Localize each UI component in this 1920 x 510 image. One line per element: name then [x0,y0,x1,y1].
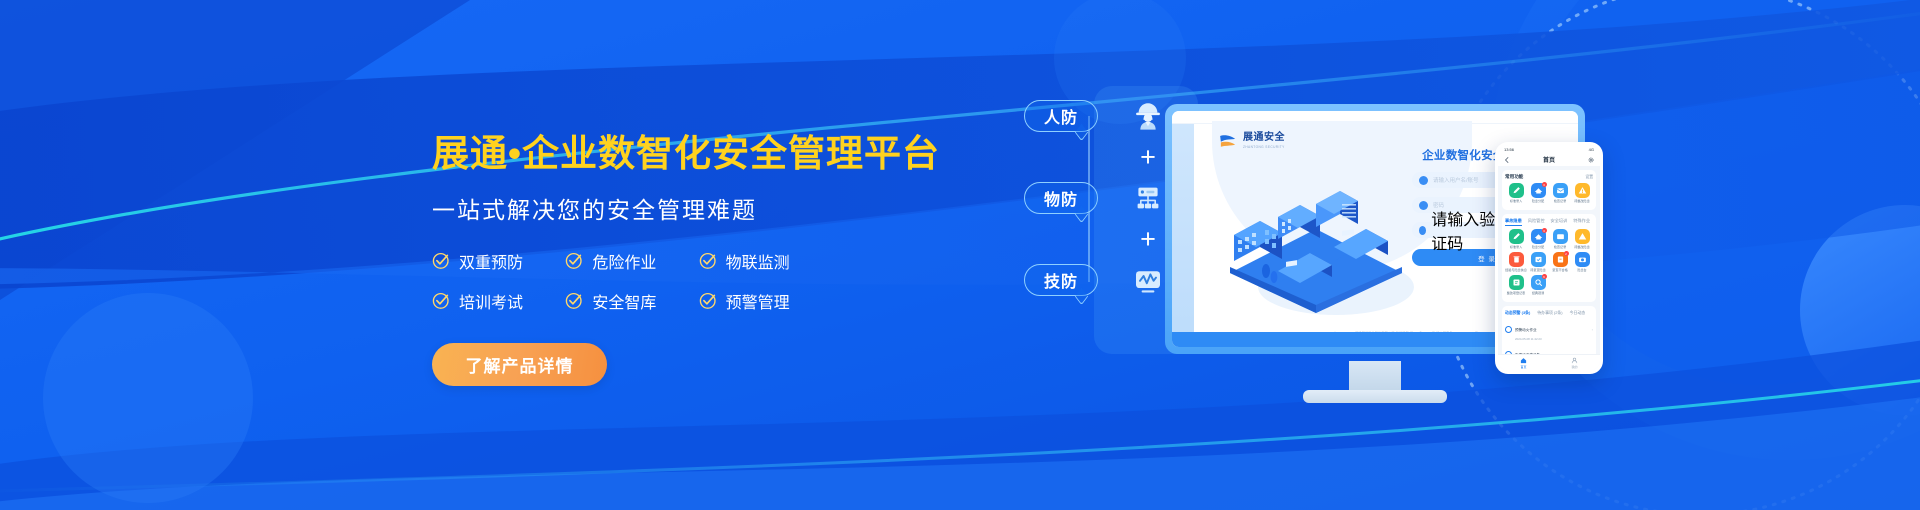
app-label: 经验与隐患信息 [1505,269,1527,273]
feature-label: 培训考试 [459,289,523,313]
phone-status-bar: 13:56 4G [1498,145,1600,153]
lock-icon [1419,201,1428,210]
edit-doc-icon [1509,183,1524,198]
tabbar-label: 首页 [1520,365,1526,369]
list-tab-today[interactable]: 今日动态 [1570,310,1586,316]
app-tile[interactable]: 标准录入 [1505,183,1527,203]
product-visual: 人防 物防 技防 + [1010,60,1880,480]
tab-training[interactable]: 安全培训 [1551,218,1568,226]
user-icon [1419,176,1428,185]
app-label: 隐患分配 [1532,246,1544,250]
app-label: 待整改隐患 [1574,200,1589,204]
form-icon [1509,275,1524,290]
check-circle-icon [699,291,718,310]
badge-count: 3 [1542,182,1547,187]
warning-icon [1575,229,1590,244]
feature-label: 预警管理 [726,289,790,313]
app-label: 隐患台 [1577,269,1586,273]
app-label: 检查记录 [1554,200,1566,204]
tab-special[interactable]: 特殊作业 [1573,218,1590,226]
app-label: 标准录入 [1510,246,1522,250]
plus-separator-1: + [1140,140,1156,174]
camera-icon [1575,252,1590,267]
phone-section-common: 常用功能 设置 标准录入 3 [1502,170,1596,210]
username-placeholder: 请输入用户名/账号 [1433,176,1479,184]
feature-item: 预警管理 [699,289,832,313]
shield-icon [1419,226,1426,235]
app-tile[interactable]: 待整改隐患 [1571,229,1593,249]
page-title: 展通•企业数智化安全管理平台 [432,134,992,175]
review-icon [1531,252,1546,267]
feature-item: 危险作业 [565,249,698,273]
feature-label: 双重预防 [459,249,523,273]
app-label: 隐患分配 [1532,200,1544,204]
record-icon [1553,229,1568,244]
app-label: 检查记录 [1554,246,1566,250]
feature-label: 物联监测 [726,249,790,273]
item-title: 预警动火作业 [1515,328,1537,332]
tabbar-profile[interactable]: 我的 [1549,355,1600,371]
learn-more-button[interactable]: 了解产品详情 [432,343,607,386]
status-signal: 4G [1589,147,1594,152]
phone-tabbar: 首页 我的 [1498,354,1600,371]
app-label: 待整改隐患 [1574,246,1589,250]
section-action[interactable]: 设置 [1585,175,1593,180]
list-tab-alerts[interactable]: 动态预警 (3条) [1505,310,1530,316]
app-tile[interactable]: 3 隐患分配 [1527,183,1549,203]
feature-row: 培训考试 安全智库 预警管理 [432,289,832,313]
app-grid: 标准录入 3 隐患分配 [1505,229,1593,298]
user-icon [1571,357,1578,364]
phone-title: 首页 [1543,155,1555,164]
warning-icon [1575,183,1590,198]
check-circle-icon [565,251,584,270]
tabbar-label: 我的 [1571,365,1577,369]
tab-risk[interactable]: 风险管控 [1528,218,1545,226]
mobile-phone-mockup: 13:56 4G 首页 常用功能 [1495,142,1603,374]
edit-doc-icon [1509,229,1524,244]
app-tile[interactable]: 9 经典观测 [1527,275,1549,295]
feature-item: 双重预防 [432,249,565,273]
phone-section-hazard: 事故隐患 风险管控 安全培训 特殊作业 标准录入 [1502,214,1596,302]
tab-hazard[interactable]: 事故隐患 [1505,218,1522,226]
app-label: 复查不合格 [1552,269,1567,273]
logo-mark-icon [1218,133,1238,149]
monitor-stand-neck [1349,361,1401,393]
check-circle-icon [432,291,451,310]
logo-text: 展通安全 [1243,133,1285,143]
feature-list: 双重预防 危险作业 物联监测 [432,249,832,313]
badge-count: 2 [1564,251,1569,256]
list-tab-todo[interactable]: 待办事项 (2条) [1537,310,1562,316]
app-grid: 标准录入 3 隐患分配 [1505,183,1593,206]
logo-subtext: ZHANTONG SECURITY [1243,145,1285,149]
chevron-right-icon: › [1592,327,1593,332]
feature-item: 物联监测 [699,249,832,273]
phone-screen: 13:56 4G 首页 常用功能 [1498,145,1600,371]
app-tile[interactable]: 检查记录 [1549,183,1571,203]
item-time: 2024-05-08 11:42:23 [1515,337,1589,341]
feature-row: 双重预防 危险作业 物联监测 [432,249,832,273]
app-label: 标准录入 [1510,200,1522,204]
badge-wufang[interactable]: 物防 [1024,182,1098,214]
app-tile[interactable]: 隐患台 [1571,252,1593,272]
app-tile[interactable]: 3 隐患分配 [1527,229,1549,249]
hazard-assign-icon: 3 [1531,229,1546,244]
search-icon: 9 [1531,275,1546,290]
record-icon [1553,183,1568,198]
feature-item: 培训考试 [432,289,565,313]
status-time: 13:56 [1504,147,1514,152]
monitor-stand-base [1303,390,1447,403]
app-tile[interactable]: 待复查隐患 [1527,252,1549,272]
app-tile[interactable]: 标准录入 [1505,229,1527,249]
check-circle-icon [565,291,584,310]
check-circle-icon [699,251,718,270]
alert-ring-icon [1505,326,1512,333]
check-circle-icon [432,251,451,270]
list-item[interactable]: 预警动火作业 2024-05-08 11:42:23 › [1505,318,1593,341]
back-icon[interactable] [1504,157,1510,163]
app-tile[interactable]: 整改项登记表 [1505,275,1527,295]
badge-renfang[interactable]: 人防 [1024,100,1098,132]
app-label: 整改项登记表 [1507,292,1526,296]
gear-icon[interactable] [1588,157,1594,163]
plus-separator-2: + [1140,222,1156,256]
list-headers: 动态预警 (3条) 待办事项 (2条) 今日动态 [1505,310,1593,316]
app-label: 经典观测 [1532,292,1544,296]
feature-item: 安全智库 [565,289,698,313]
hazard-assign-icon: 3 [1531,183,1546,198]
section-header: 常用功能 设置 [1505,174,1593,180]
badge-count: 9 [1542,274,1547,279]
badge-jifang[interactable]: 技防 [1024,264,1098,296]
app-tile[interactable]: 2 复查不合格 [1549,252,1571,272]
app-logo: 展通安全 ZHANTONG SECURITY [1218,133,1285,149]
page-subtitle: 一站式解决您的安全管理难题 [432,191,992,225]
fail-review-icon: 2 [1553,252,1568,267]
app-tile[interactable]: 待整改隐患 [1571,183,1593,203]
tabbar-home[interactable]: 首页 [1498,355,1549,371]
badge-count: 3 [1542,228,1547,233]
section-title: 常用功能 [1505,174,1523,180]
hero-banner: 展通•企业数智化安全管理平台 一站式解决您的安全管理难题 双重预防 危险作业 [0,0,1920,510]
trash-report-icon [1509,252,1524,267]
section-tabs: 事故隐患 风险管控 安全培训 特殊作业 [1505,218,1593,226]
phone-header: 首页 [1498,153,1600,166]
feature-label: 危险作业 [592,249,656,273]
feature-label: 安全智库 [592,289,656,313]
home-icon [1520,357,1527,364]
app-label: 待复查隐患 [1530,269,1545,273]
app-sidebar-strip [1172,124,1194,347]
isometric-city-icon [1216,187,1416,317]
hero-copy: 展通•企业数智化安全管理平台 一站式解决您的安全管理难题 双重预防 危险作业 [432,134,992,386]
app-tile[interactable]: 检查记录 [1549,229,1571,249]
app-tile[interactable]: 经验与隐患信息 [1505,252,1527,272]
